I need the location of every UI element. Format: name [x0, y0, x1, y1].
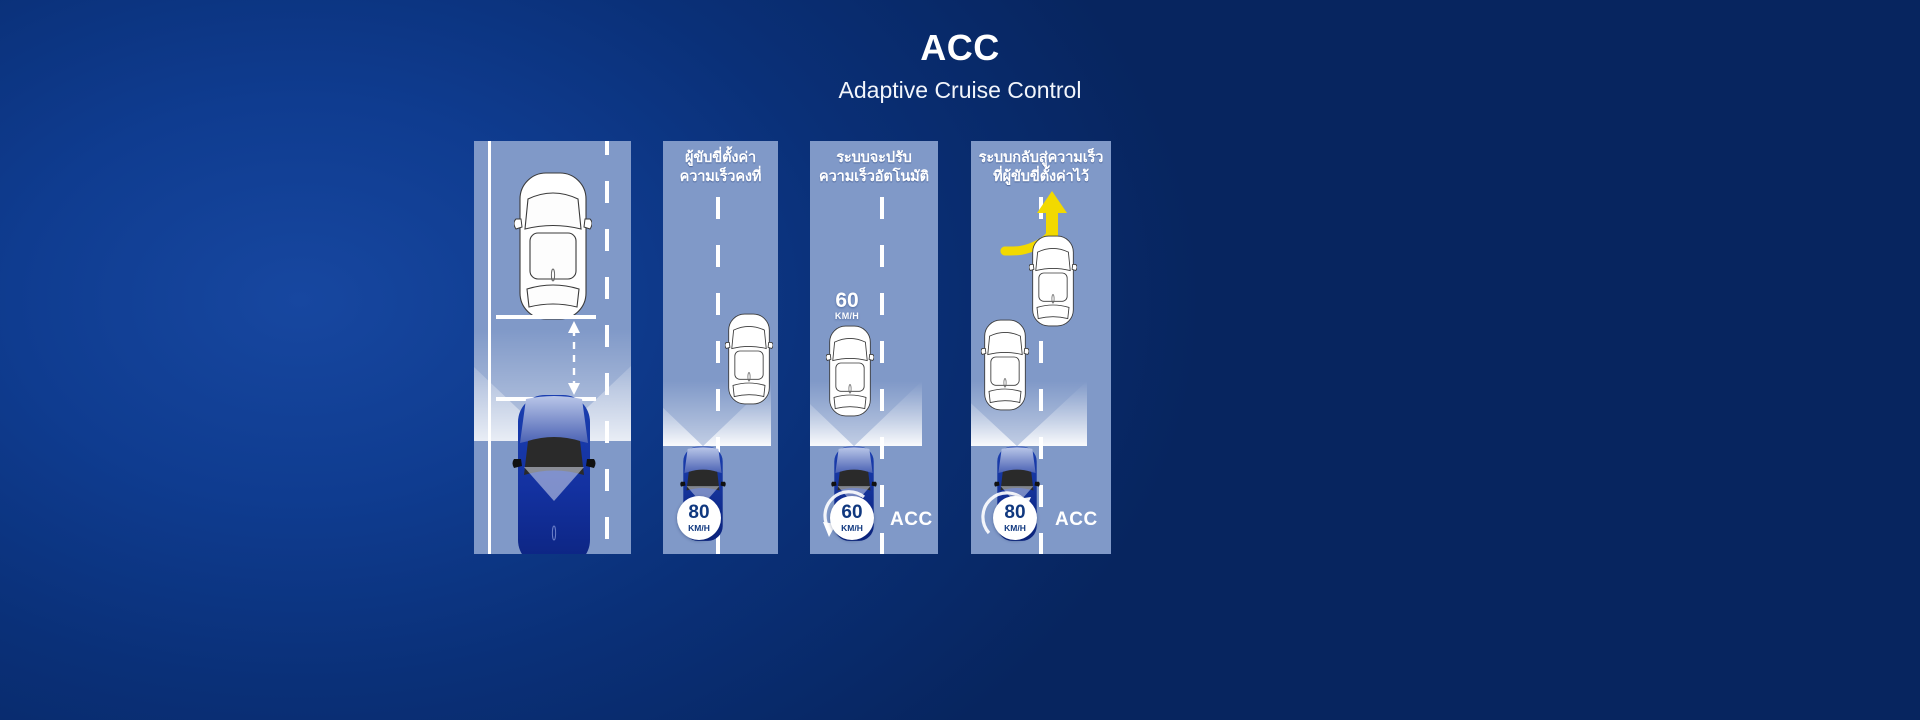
- panel-resume-speed: ระบบกลับสู่ความเร็ว ที่ผู้ขับขี่ตั้งค่าไ…: [971, 141, 1111, 554]
- floating-speed-unit: KM/H: [824, 311, 870, 321]
- caption-line-1: ระบบกลับสู่ความเร็ว: [973, 149, 1109, 168]
- panel-set-speed: ผู้ขับขี่ตั้งค่า ความเร็วคงที่: [663, 141, 778, 554]
- lead-car-white-lower: [981, 317, 1029, 413]
- road-edge-line-left: [488, 141, 491, 554]
- lead-car-white-changing-lane: [1029, 233, 1077, 329]
- floating-speed-label: 60 KM/H: [824, 291, 870, 321]
- panel-auto-adjust: ระบบจะปรับ ความเร็วอัตโนมัติ 60 KM/H: [810, 141, 938, 554]
- caption-line-1: ระบบจะปรับ: [812, 149, 936, 168]
- caption-line-2: ที่ผู้ขับขี่ตั้งค่าไว้: [973, 168, 1109, 187]
- speed-unit: KM/H: [841, 524, 863, 533]
- lane-dash-line: [880, 197, 884, 554]
- caption-line-2: ความเร็วคงที่: [665, 168, 776, 187]
- caption-line-2: ความเร็วอัตโนมัติ: [812, 168, 936, 187]
- panel-caption: ผู้ขับขี่ตั้งค่า ความเร็วคงที่: [663, 149, 778, 187]
- acc-infographic: ACC Adaptive Cruise Control: [0, 0, 1920, 720]
- acc-status-label: ACC: [890, 509, 933, 531]
- speed-badge: 60 KM/H: [830, 496, 874, 540]
- speed-value: 60: [841, 503, 862, 522]
- page-subtitle: Adaptive Cruise Control: [0, 75, 1920, 105]
- caption-line-1: ผู้ขับขี่ตั้งค่า: [665, 149, 776, 168]
- panel-caption: ระบบจะปรับ ความเร็วอัตโนมัติ: [810, 149, 938, 187]
- header: ACC Adaptive Cruise Control: [0, 26, 1920, 105]
- distance-gap-indicator: [496, 313, 610, 403]
- panel-detection: [474, 141, 631, 554]
- lead-car-white: [514, 171, 592, 321]
- acc-status-label: ACC: [1055, 509, 1098, 531]
- speed-unit: KM/H: [1004, 524, 1026, 533]
- speed-unit: KM/H: [688, 524, 710, 533]
- lead-car-white: [826, 323, 874, 419]
- speed-value: 80: [688, 503, 709, 522]
- up-arrow-icon: [1035, 191, 1069, 239]
- floating-speed-value: 60: [824, 291, 870, 311]
- lead-car-white: [725, 311, 773, 407]
- page-title: ACC: [0, 26, 1920, 70]
- speed-badge: 80 KM/H: [993, 496, 1037, 540]
- panel-caption: ระบบกลับสู่ความเร็ว ที่ผู้ขับขี่ตั้งค่าไ…: [971, 149, 1111, 187]
- ego-car-blue: [512, 393, 596, 554]
- speed-value: 80: [1004, 503, 1025, 522]
- speed-badge: 80 KM/H: [677, 496, 721, 540]
